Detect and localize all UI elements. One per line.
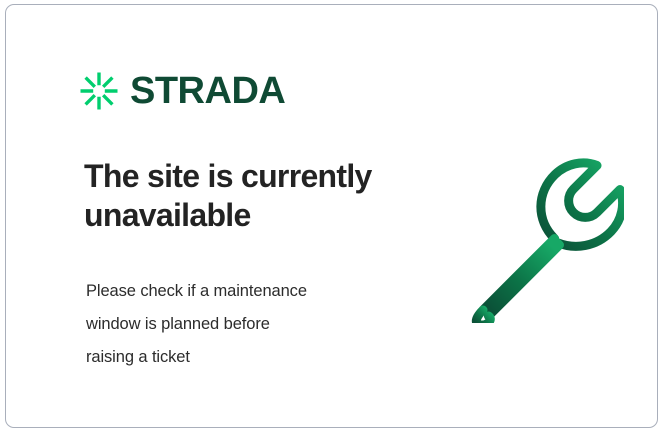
description-line: raising a ticket xyxy=(86,341,396,374)
status-card: STRADA The site is currently unavailable… xyxy=(5,4,658,428)
error-page: STRADA The site is currently unavailable… xyxy=(0,0,666,436)
description-line: window is planned before xyxy=(86,308,396,341)
strada-asterisk-icon xyxy=(79,71,119,111)
page-description: Please check if a maintenance window is … xyxy=(86,275,396,374)
page-title: The site is currently unavailable xyxy=(84,157,414,235)
description-line: Please check if a maintenance xyxy=(86,275,396,308)
brand-lockup: STRADA xyxy=(79,71,285,111)
wrench-icon xyxy=(458,153,624,323)
brand-wordmark: STRADA xyxy=(130,72,285,110)
